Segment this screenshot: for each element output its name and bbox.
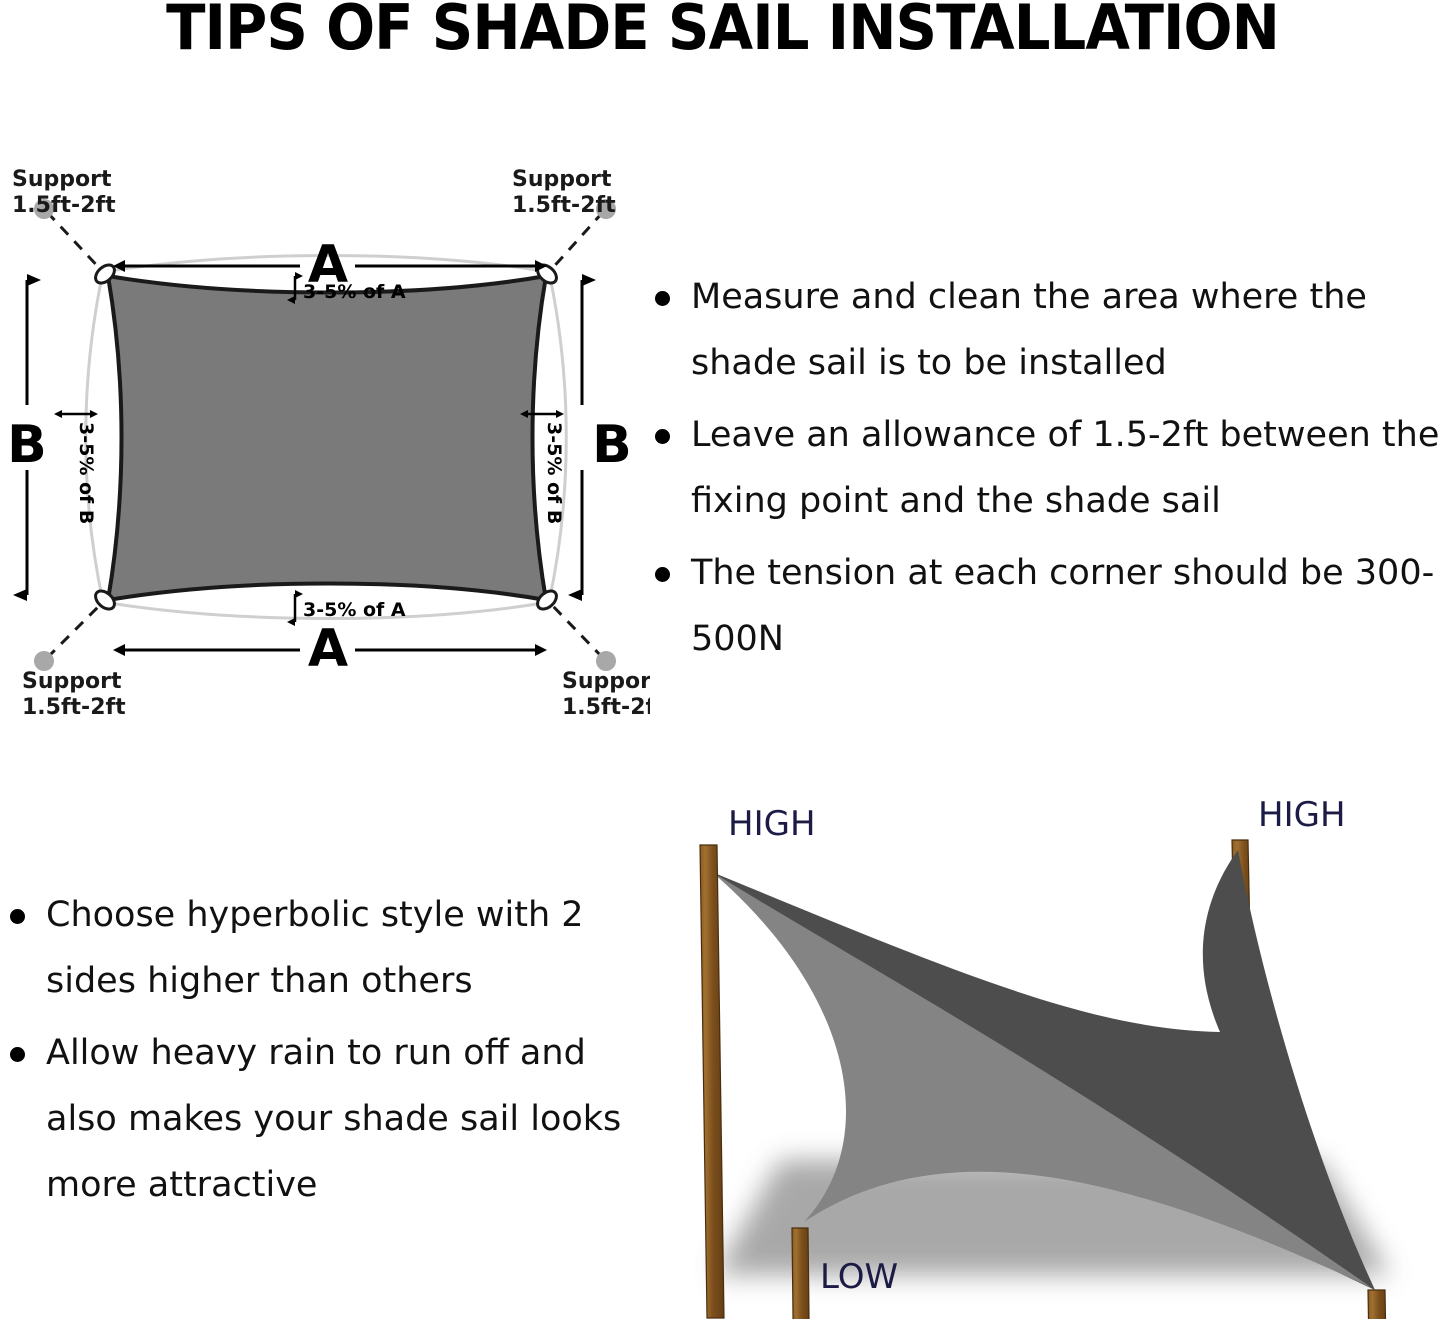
dimension-b-right-label: B: [592, 415, 632, 475]
list-item-text: Allow heavy rain to run off and also mak…: [46, 1033, 621, 1205]
list-item: Allow heavy rain to run off and also mak…: [0, 1020, 630, 1218]
rectangular-sail-diagram: A 3-5% of A A 3-5% of A B 3-5% of B B 3-…: [0, 150, 650, 720]
hyperbolic-sail-diagram: HIGH HIGH LOW LOW: [620, 780, 1445, 1319]
post-low-right: [1368, 1290, 1388, 1319]
support-top-right-line1: Support: [512, 167, 612, 192]
list-item: Measure and clean the area where the sha…: [645, 264, 1445, 396]
bullet-dot-icon: [655, 429, 670, 444]
support-bottom-right-line1: Support: [562, 669, 650, 694]
bullet-dot-icon: [10, 1047, 25, 1062]
support-top-right-line2: 1.5ft-2ft: [512, 193, 616, 218]
support-bottom-left-line1: Support: [22, 669, 122, 694]
sag-top-label: 3-5% of A: [303, 281, 406, 303]
post-high-left: [700, 845, 724, 1318]
tips-list-top: Measure and clean the area where the sha…: [645, 264, 1445, 678]
label-high-left: HIGH: [728, 804, 816, 844]
page-title: TIPS OF SHADE SAIL INSTALLATION: [51, 0, 1395, 60]
support-top-left-line2: 1.5ft-2ft: [12, 193, 116, 218]
support-bottom-right-line2: 1.5ft-2ft: [562, 695, 650, 720]
support-top-left-line1: Support: [12, 167, 112, 192]
list-item-text: The tension at each corner should be 300…: [691, 553, 1434, 659]
label-low-left: LOW: [820, 1257, 898, 1297]
sag-right-label: 3-5% of B: [543, 422, 565, 524]
list-item: Choose hyperbolic style with 2 sides hig…: [0, 882, 630, 1014]
dimension-a-bottom-label: A: [308, 619, 348, 679]
sag-bottom-label: 3-5% of A: [303, 599, 406, 621]
support-bottom-left-line2: 1.5ft-2ft: [22, 695, 126, 720]
list-item: The tension at each corner should be 300…: [645, 540, 1445, 672]
list-item-text: Leave an allowance of 1.5-2ft between th…: [691, 415, 1439, 521]
bullet-dot-icon: [655, 567, 670, 582]
list-item: Leave an allowance of 1.5-2ft between th…: [645, 402, 1445, 534]
bullet-dot-icon: [655, 291, 670, 306]
list-item-text: Choose hyperbolic style with 2 sides hig…: [46, 895, 584, 1001]
sag-left-label: 3-5% of B: [75, 422, 97, 524]
list-item-text: Measure and clean the area where the sha…: [691, 277, 1367, 383]
bullet-dot-icon: [10, 909, 25, 924]
post-low-left: [792, 1228, 810, 1319]
shade-sail-body: [108, 276, 546, 600]
tips-list-bottom: Choose hyperbolic style with 2 sides hig…: [0, 882, 630, 1224]
label-high-right: HIGH: [1258, 795, 1346, 835]
dimension-b-left-label: B: [7, 415, 47, 475]
